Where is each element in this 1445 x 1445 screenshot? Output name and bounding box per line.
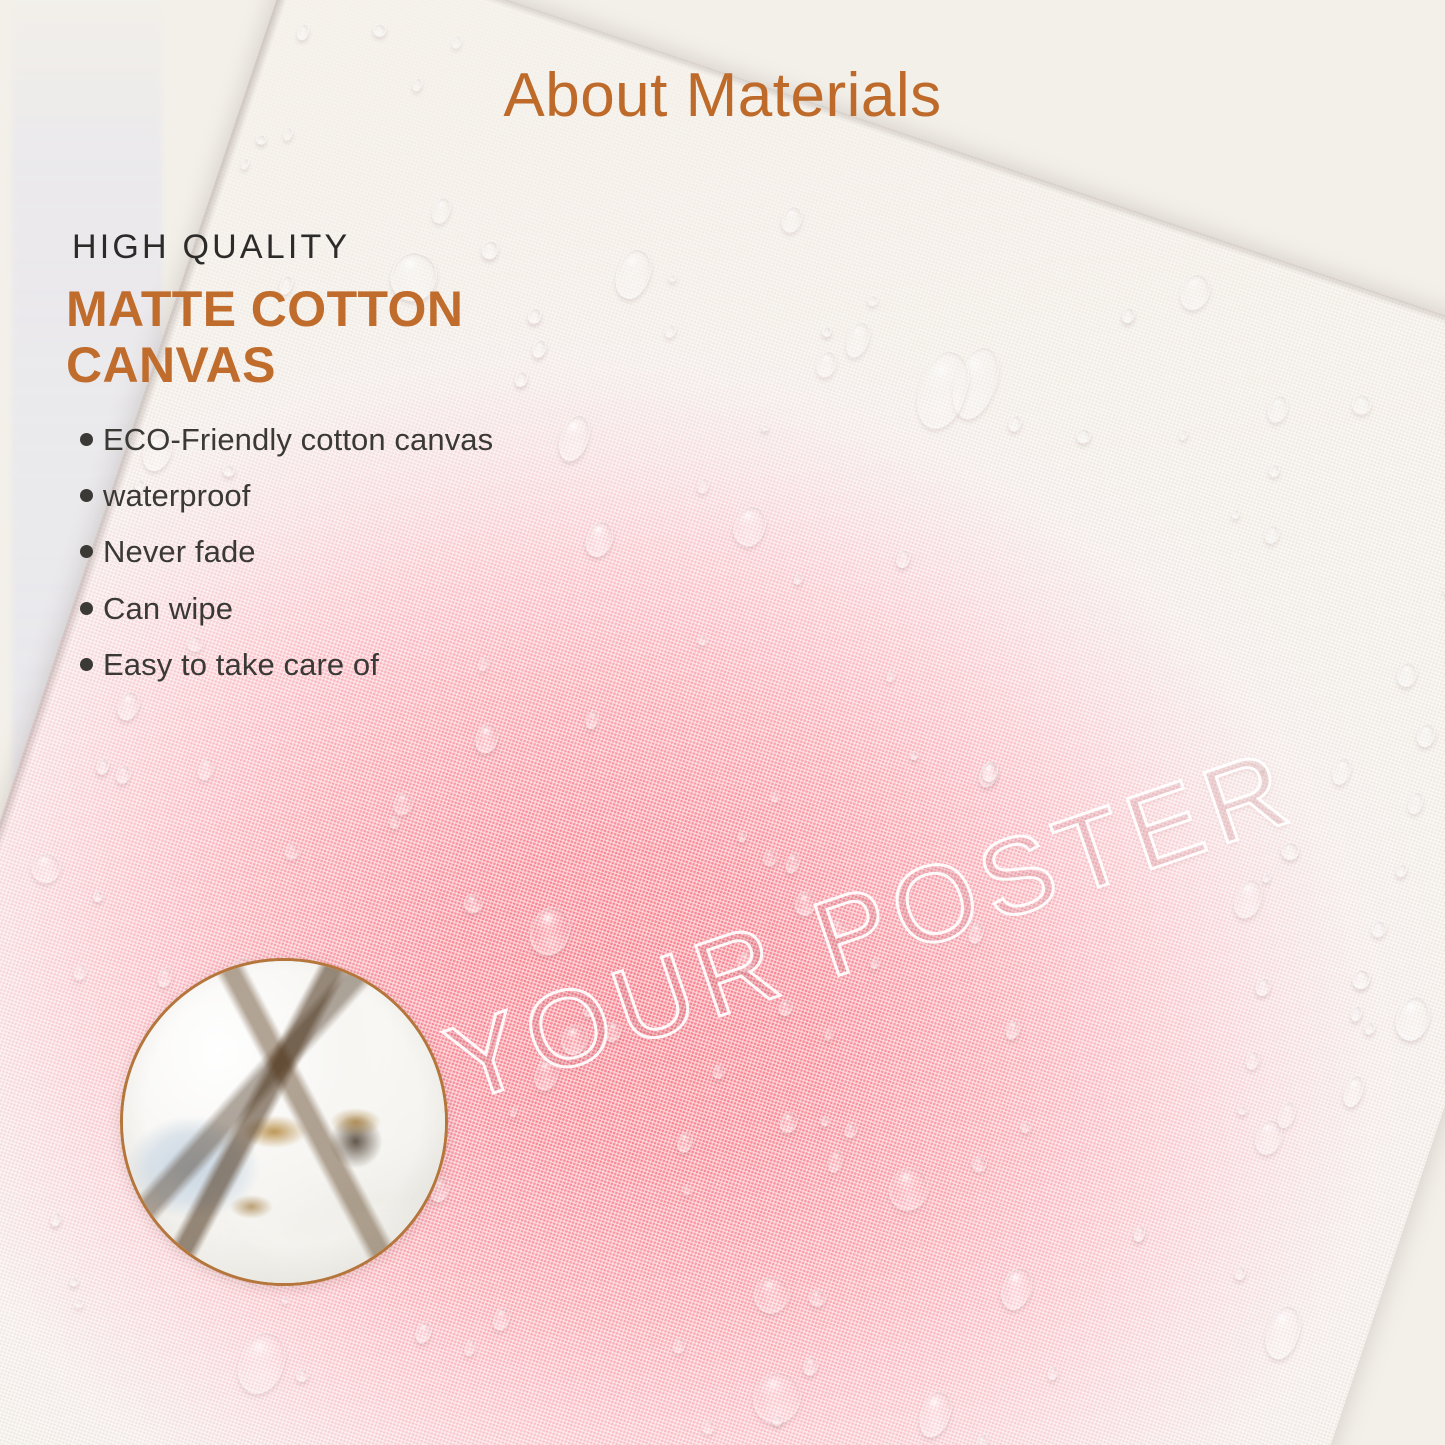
feature-label: Easy to take care of <box>103 644 379 685</box>
bullet-dot-icon <box>80 658 93 671</box>
feature-list-item: Easy to take care of <box>80 644 626 685</box>
bullet-dot-icon <box>80 489 93 502</box>
bullet-dot-icon <box>80 602 93 615</box>
feature-list-item: ECO-Friendly cotton canvas <box>80 419 626 460</box>
feature-list: ECO-Friendly cotton canvaswaterproofNeve… <box>66 419 626 685</box>
cotton-photo-vignette <box>123 961 445 1283</box>
feature-list-item: waterproof <box>80 475 626 516</box>
material-info-block: HIGH QUALITY MATTE COTTON CANVAS ECO-Fri… <box>66 228 626 700</box>
feature-list-item: Can wipe <box>80 588 626 629</box>
feature-label: waterproof <box>103 475 250 516</box>
feature-label: ECO-Friendly cotton canvas <box>103 419 493 460</box>
bullet-dot-icon <box>80 545 93 558</box>
bullet-dot-icon <box>80 433 93 446</box>
material-headline: MATTE COTTON CANVAS <box>66 281 566 393</box>
page-title: About Materials <box>0 60 1445 131</box>
infographic-canvas: YOUR POSTER About Materials HIGH QUALITY… <box>0 0 1445 1445</box>
feature-label: Never fade <box>103 531 256 572</box>
feature-list-item: Never fade <box>80 531 626 572</box>
cotton-photo-circle <box>120 958 448 1286</box>
kicker-label: HIGH QUALITY <box>72 228 626 267</box>
feature-label: Can wipe <box>103 588 233 629</box>
